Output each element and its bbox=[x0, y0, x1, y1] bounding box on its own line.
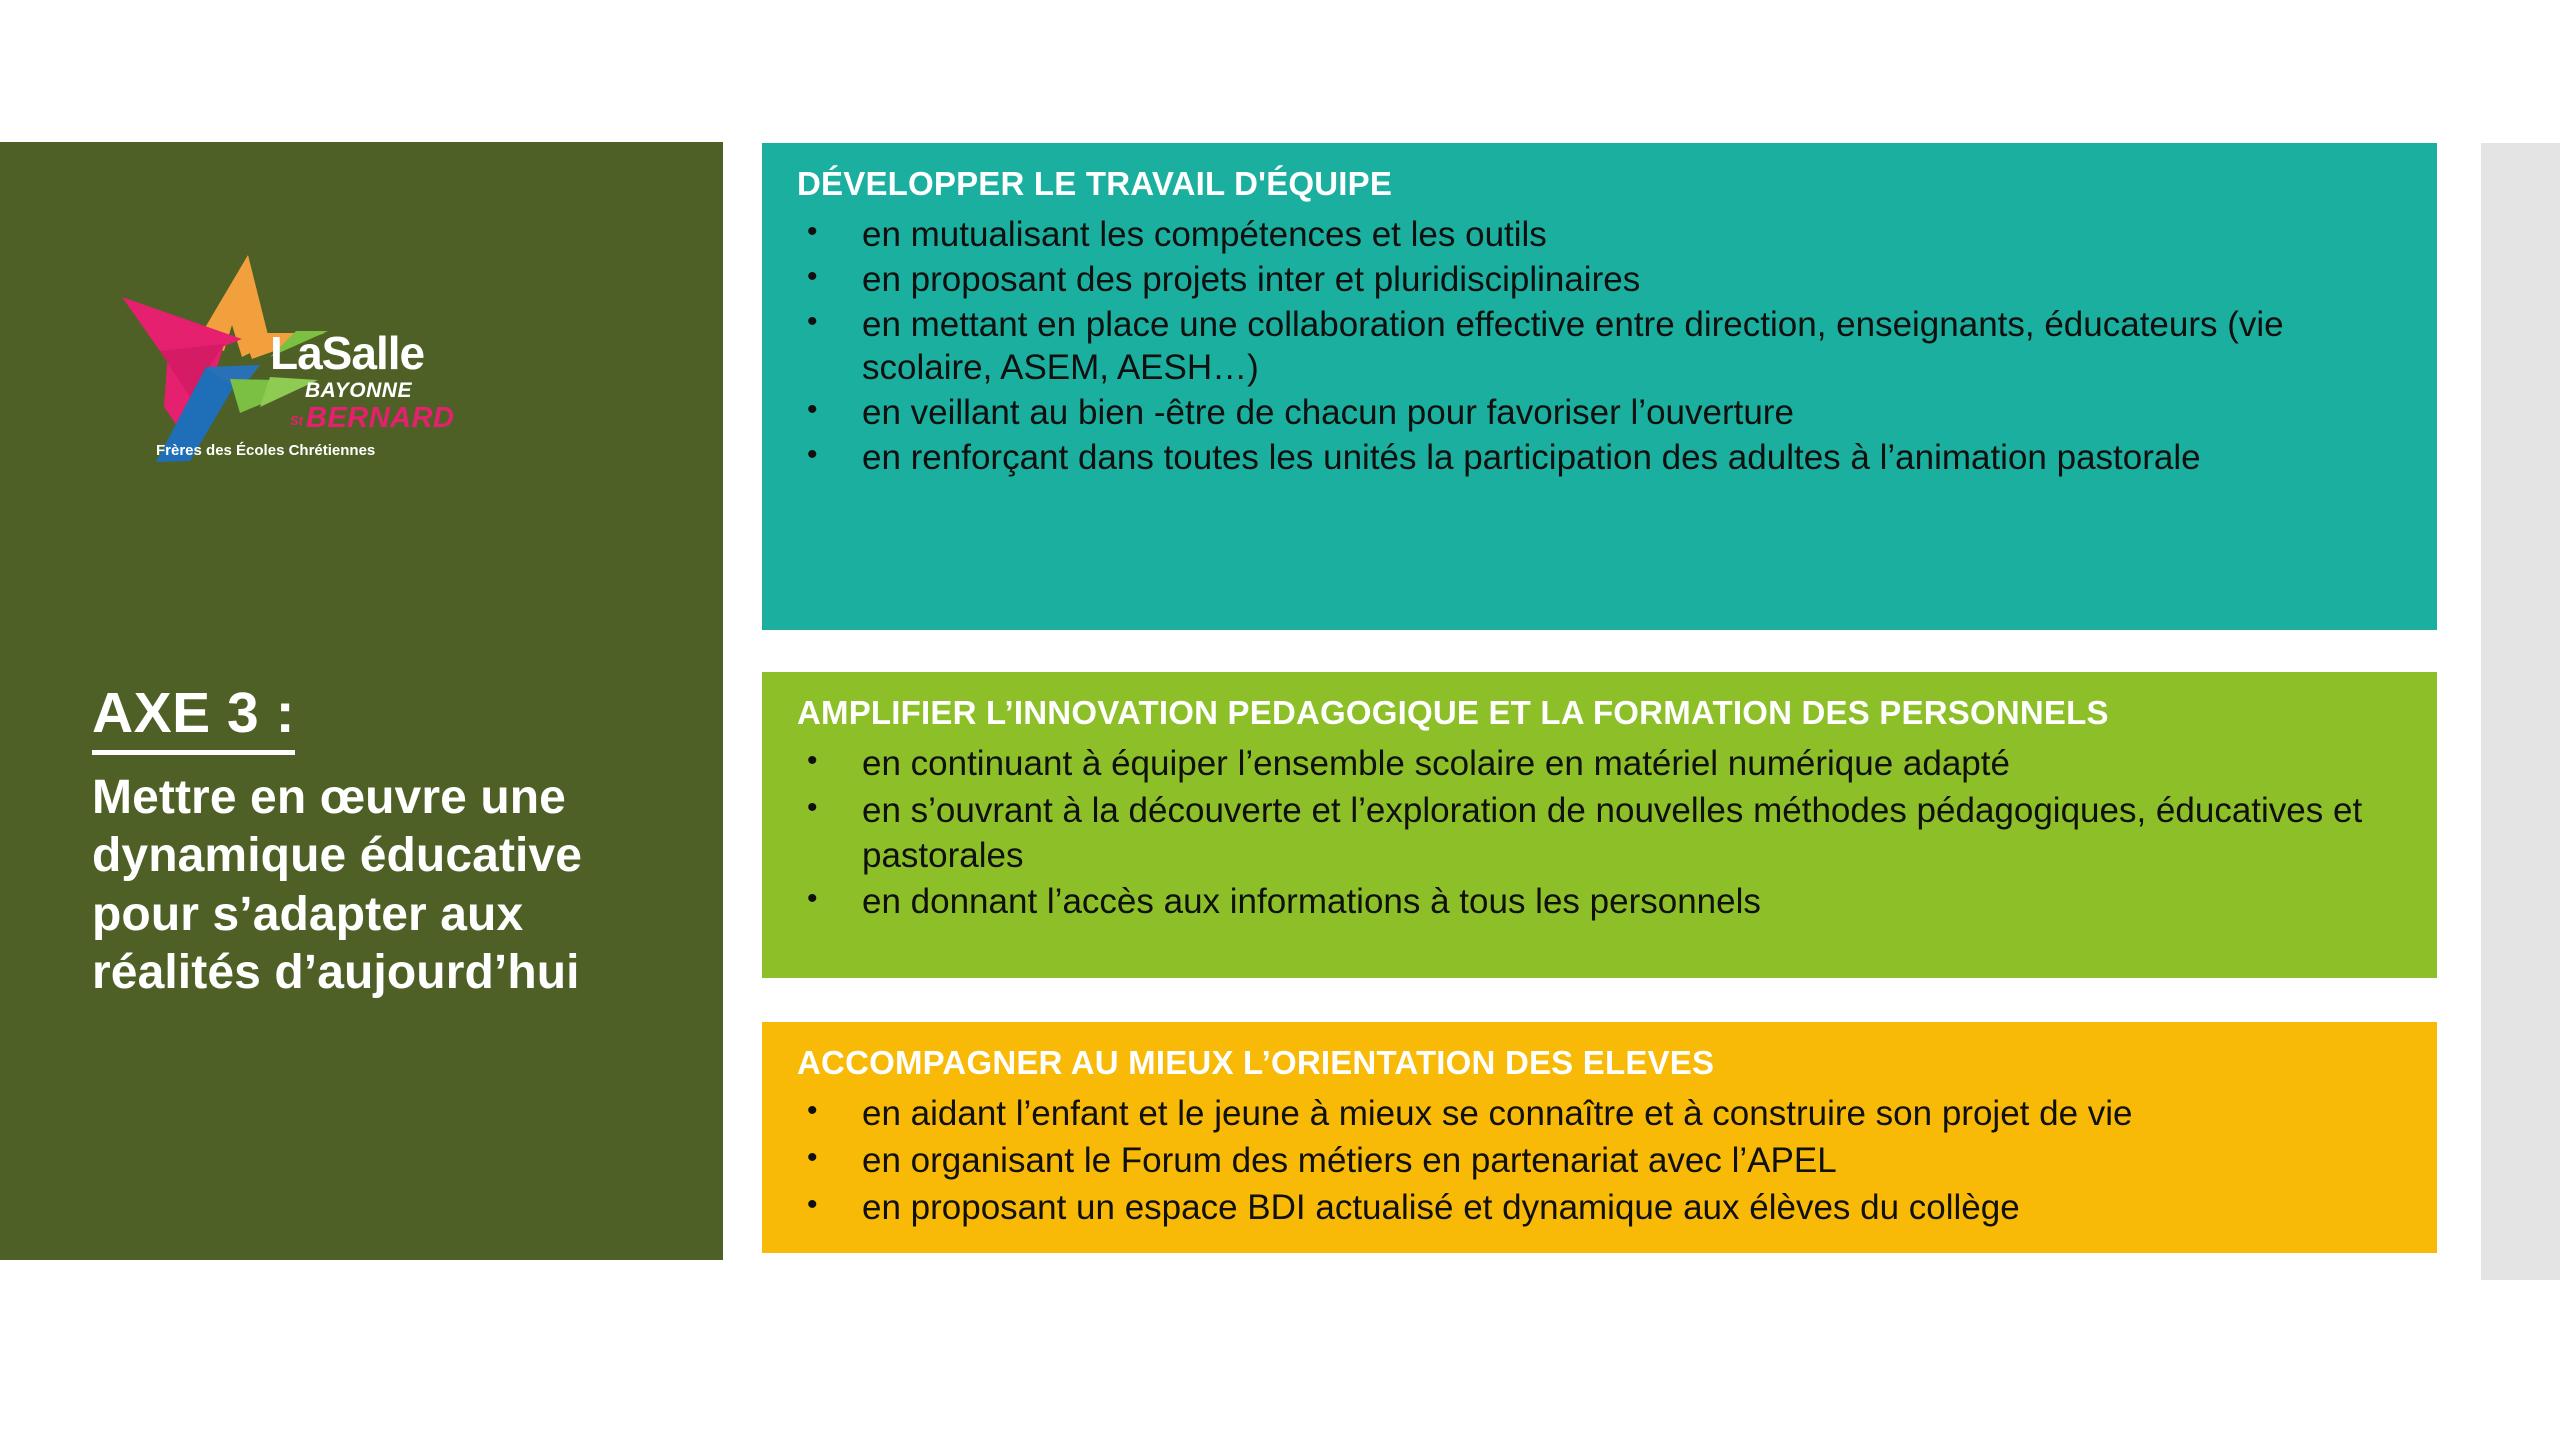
bullet-item: en proposant un espace BDI actualisé et … bbox=[792, 1186, 2407, 1231]
axe-subtitle: Mettre en œuvre une dynamique éducative … bbox=[92, 769, 712, 1003]
axe-subtitle-line: Mettre en œuvre une bbox=[92, 769, 712, 828]
bullet-item: en renforçant dans toutes les unités la … bbox=[792, 436, 2407, 479]
axe-title: AXE 3 : bbox=[92, 682, 295, 755]
content-box-developper-le-travail-d-equipe: DÉVELOPPER LE TRAVAIL D'ÉQUIPE en mutual… bbox=[762, 143, 2437, 630]
logo-star-icon: LaSalle BAYONNE St BERNARD Frères des Éc… bbox=[120, 247, 520, 477]
bullet-item: en mutualisant les compétences et les ou… bbox=[792, 213, 2407, 256]
bullet-item: en proposant des projets inter et plurid… bbox=[792, 258, 2407, 301]
bullet-list: en aidant l’enfant et le jeune à mieux s… bbox=[792, 1092, 2407, 1230]
box-title: ACCOMPAGNER AU MIEUX L’ORIENTATION DES E… bbox=[797, 1044, 2407, 1082]
bullet-item: en donnant l’accès aux informations à to… bbox=[792, 880, 2407, 925]
content-box-accompagner-au-mieux-l-orientation-des-eleves: ACCOMPAGNER AU MIEUX L’ORIENTATION DES E… bbox=[762, 1022, 2437, 1253]
svg-text:LaSalle: LaSalle bbox=[270, 327, 425, 379]
axe-subtitle-line: réalités d’aujourd’hui bbox=[92, 944, 712, 1003]
svg-text:BERNARD: BERNARD bbox=[306, 402, 455, 434]
bullet-item: en s’ouvrant à la découverte et l’explor… bbox=[792, 789, 2407, 879]
bullet-list: en mutualisant les compétences et les ou… bbox=[792, 213, 2407, 479]
axe-subtitle-line: pour s’adapter aux bbox=[92, 886, 712, 945]
bullet-item: en organisant le Forum des métiers en pa… bbox=[792, 1139, 2407, 1184]
axe-subtitle-line: dynamique éducative bbox=[92, 827, 712, 886]
bullet-item: en continuant à équiper l’ensemble scola… bbox=[792, 742, 2407, 787]
bullet-list: en continuant à équiper l’ensemble scola… bbox=[792, 742, 2407, 925]
content-box-amplifier-l-innovation-pedagogique: AMPLIFIER L’INNOVATION PEDAGOGIQUE ET LA… bbox=[762, 672, 2437, 978]
right-side-panel bbox=[2481, 143, 2560, 1280]
box-title: AMPLIFIER L’INNOVATION PEDAGOGIQUE ET LA… bbox=[797, 694, 2407, 732]
bullet-item: en mettant en place une collaboration ef… bbox=[792, 303, 2407, 389]
left-green-panel: LaSalle BAYONNE St BERNARD Frères des Éc… bbox=[0, 142, 723, 1260]
svg-text:St: St bbox=[290, 413, 304, 428]
axe-block: AXE 3 : Mettre en œuvre une dynamique éd… bbox=[92, 682, 712, 1003]
lasalle-logo: LaSalle BAYONNE St BERNARD Frères des Éc… bbox=[120, 247, 520, 477]
bullet-item: en aidant l’enfant et le jeune à mieux s… bbox=[792, 1092, 2407, 1137]
bullet-item: en veillant au bien -être de chacun pour… bbox=[792, 391, 2407, 434]
svg-text:BAYONNE: BAYONNE bbox=[305, 379, 412, 402]
svg-text:Frères des Écoles Chrétiennes: Frères des Écoles Chrétiennes bbox=[156, 442, 375, 459]
box-title: DÉVELOPPER LE TRAVAIL D'ÉQUIPE bbox=[797, 165, 2407, 203]
